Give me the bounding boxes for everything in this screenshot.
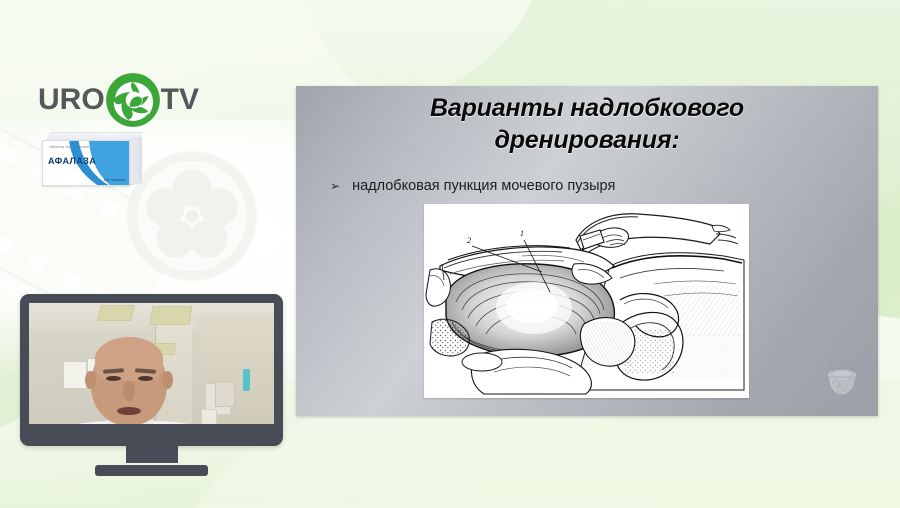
product-subtitle: таблетки подъязычные	[49, 145, 89, 149]
slide-corner-watermark	[820, 358, 864, 402]
slide-bullet-item: ➢ надлобковая пункция мочевого пузыря	[330, 178, 615, 194]
wall-object-teal	[243, 369, 250, 391]
presenter-mouth	[117, 407, 141, 415]
uro-tv-logo[interactable]: URO TV	[38, 72, 199, 128]
product-brand-name: АФАЛАЗА	[48, 156, 96, 166]
slide-title: Варианты надлобкового дренирования:	[296, 92, 878, 156]
presenter-nose	[123, 381, 135, 401]
presentation-screenshot: URO TV таблетки подъя	[0, 0, 900, 508]
monitor-stand-neck	[126, 446, 178, 463]
afalaza-product-box: таблетки подъязычные АФАЛАЗА 100 таблето…	[42, 132, 144, 186]
webcam-scene	[29, 303, 274, 424]
logo-text-prefix: URO	[38, 83, 105, 117]
presenter-monitor[interactable]	[20, 294, 283, 476]
presenter-eye-right	[138, 376, 153, 381]
webcam-video-feed[interactable]	[29, 303, 274, 424]
film-reel-watermark	[128, 152, 256, 280]
ceiling-panel	[149, 306, 192, 325]
logo-text-suffix: TV	[161, 83, 199, 117]
product-count-label: 100 таблеток	[103, 178, 125, 182]
figure-label-1: 1	[520, 229, 524, 238]
monitor-stand-base	[95, 465, 208, 476]
figure-label-2: 2	[467, 236, 471, 245]
presenter-eye-left	[106, 376, 121, 381]
slide-figure-image: 1 2	[424, 204, 749, 398]
presenter-ear-left	[85, 371, 96, 389]
monitor-bezel	[20, 294, 283, 446]
presenter-scalp	[95, 337, 163, 381]
uro-tv-emblem-icon	[105, 72, 161, 128]
desk-object-white	[201, 409, 217, 424]
presenter-ear-right	[162, 371, 173, 389]
bullet-arrow-icon: ➢	[330, 179, 340, 193]
slide-title-line-2: дренирования:	[324, 124, 850, 156]
slide-bullet-text: надлобковая пункция мочевого пузыря	[352, 178, 615, 194]
product-box-front-face: таблетки подъязычные АФАЛАЗА 100 таблето…	[42, 140, 130, 186]
ceiling-panel	[97, 305, 135, 321]
wall-poster	[63, 361, 87, 389]
presentation-slide[interactable]: Варианты надлобкового дренирования: ➢ на…	[296, 86, 878, 416]
wall-board	[215, 381, 235, 407]
slide-title-line-1: Варианты надлобкового	[324, 92, 850, 124]
